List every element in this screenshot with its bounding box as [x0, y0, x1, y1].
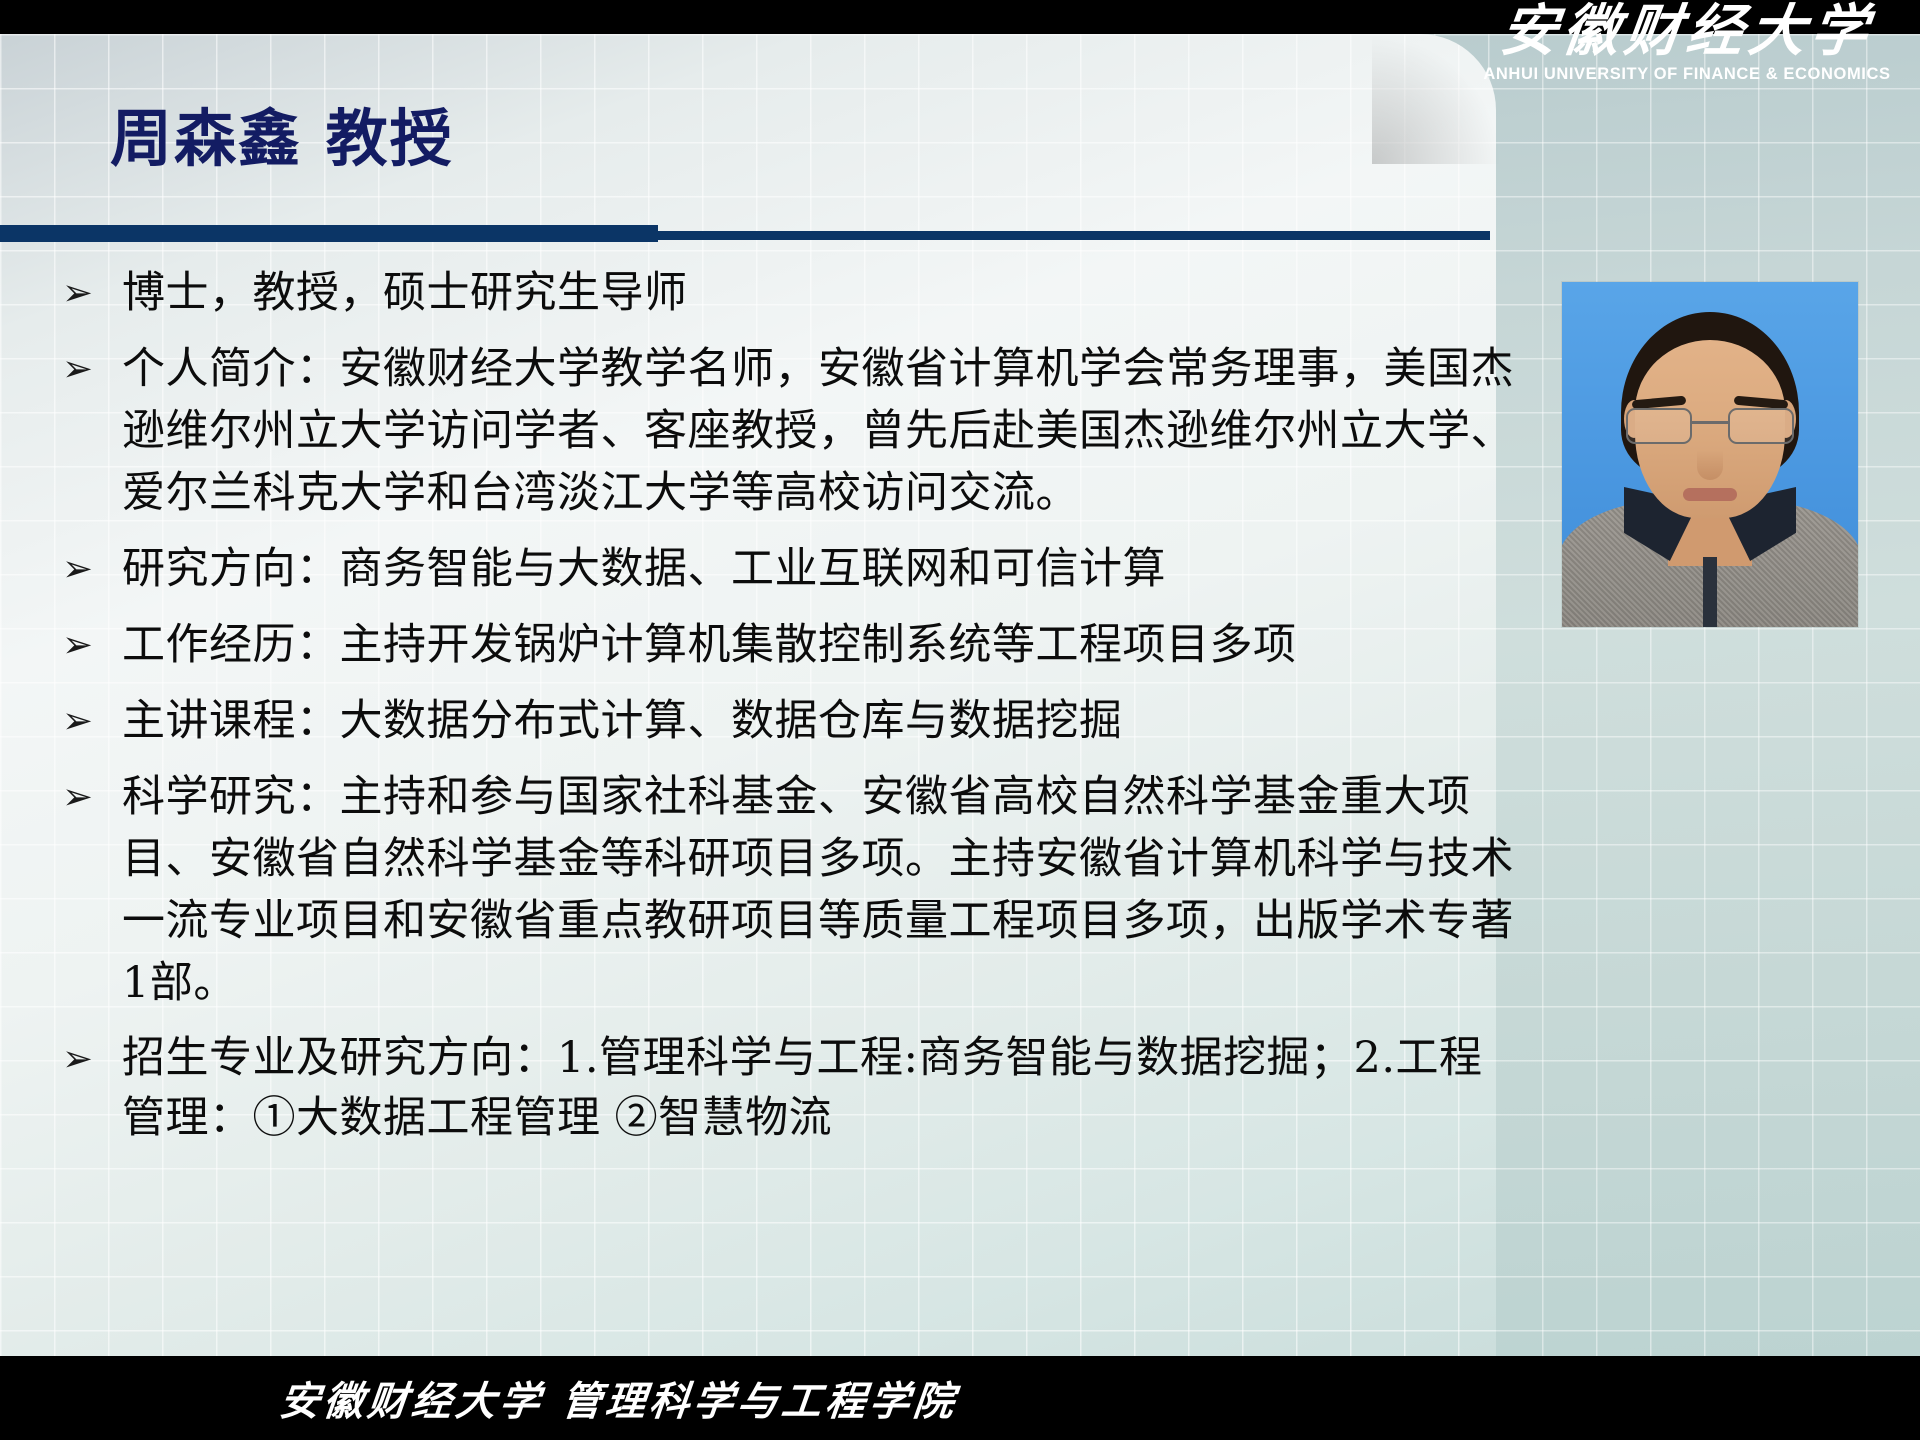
glasses-icon [1626, 408, 1794, 446]
list-item-text: 科学研究：主持和参与国家社科基金、安徽省高校自然科学基金重大项目、安徽省自然科学… [122, 766, 1526, 1014]
bullet-arrow-icon: ➢ [56, 338, 122, 400]
list-item-text: 招生专业及研究方向：1.管理科学与工程:商务智能与数据挖掘；2.工程管理：①大数… [122, 1028, 1526, 1148]
bullet-arrow-icon: ➢ [56, 614, 122, 676]
title-divider-thick [0, 225, 658, 242]
glasses-lens-right [1728, 408, 1794, 444]
footer-text: 安徽财经大学 管理科学与工程学院 [0, 1356, 1920, 1440]
page-title: 周森鑫 教授 [110, 88, 454, 178]
portrait-mouth [1683, 488, 1737, 501]
bullet-arrow-icon: ➢ [56, 262, 122, 324]
logo-name-en: ANHUI UNIVERSITY OF FINANCE & ECONOMICS [1472, 65, 1902, 84]
list-item: ➢ 工作经历：主持开发锅炉计算机集散控制系统等工程项目多项 [56, 614, 1526, 676]
list-item: ➢ 科学研究：主持和参与国家社科基金、安徽省高校自然科学基金重大项目、安徽省自然… [56, 766, 1526, 1014]
bullet-arrow-icon: ➢ [56, 1028, 122, 1090]
portrait-photo [1562, 282, 1858, 627]
list-item-text: 研究方向：商务智能与大数据、工业互联网和可信计算 [122, 538, 1526, 600]
list-item-text: 博士，教授，硕士研究生导师 [122, 262, 1526, 324]
slide-root: 安徽财经大学 ANHUI UNIVERSITY OF FINANCE & ECO… [0, 0, 1920, 1440]
bullet-arrow-icon: ➢ [56, 766, 122, 828]
list-item-text: 个人简介：安徽财经大学教学名师，安徽省计算机学会常务理事，美国杰逊维尔州立大学访… [122, 338, 1526, 524]
title-divider-thin [658, 231, 1490, 240]
glasses-lens-left [1626, 408, 1692, 444]
list-item-text: 工作经历：主持开发锅炉计算机集散控制系统等工程项目多项 [122, 614, 1526, 676]
portrait-nose [1697, 450, 1723, 480]
list-item: ➢ 招生专业及研究方向：1.管理科学与工程:商务智能与数据挖掘；2.工程管理：①… [56, 1028, 1526, 1148]
list-item: ➢ 个人简介：安徽财经大学教学名师，安徽省计算机学会常务理事，美国杰逊维尔州立大… [56, 338, 1526, 524]
glasses-bridge [1692, 421, 1728, 424]
portrait-placket [1703, 557, 1717, 627]
bullet-list: ➢ 博士，教授，硕士研究生导师 ➢ 个人简介：安徽财经大学教学名师，安徽省计算机… [56, 262, 1526, 1162]
list-item: ➢ 研究方向：商务智能与大数据、工业互联网和可信计算 [56, 538, 1526, 600]
university-logo: 安徽财经大学 ANHUI UNIVERSITY OF FINANCE & ECO… [1472, 2, 1902, 84]
logo-name-cn: 安徽财经大学 [1468, 2, 1905, 61]
bullet-arrow-icon: ➢ [56, 538, 122, 600]
list-item: ➢ 博士，教授，硕士研究生导师 [56, 262, 1526, 324]
list-item-text: 主讲课程：大数据分布式计算、数据仓库与数据挖掘 [122, 690, 1526, 752]
bullet-arrow-icon: ➢ [56, 690, 122, 752]
list-item: ➢ 主讲课程：大数据分布式计算、数据仓库与数据挖掘 [56, 690, 1526, 752]
